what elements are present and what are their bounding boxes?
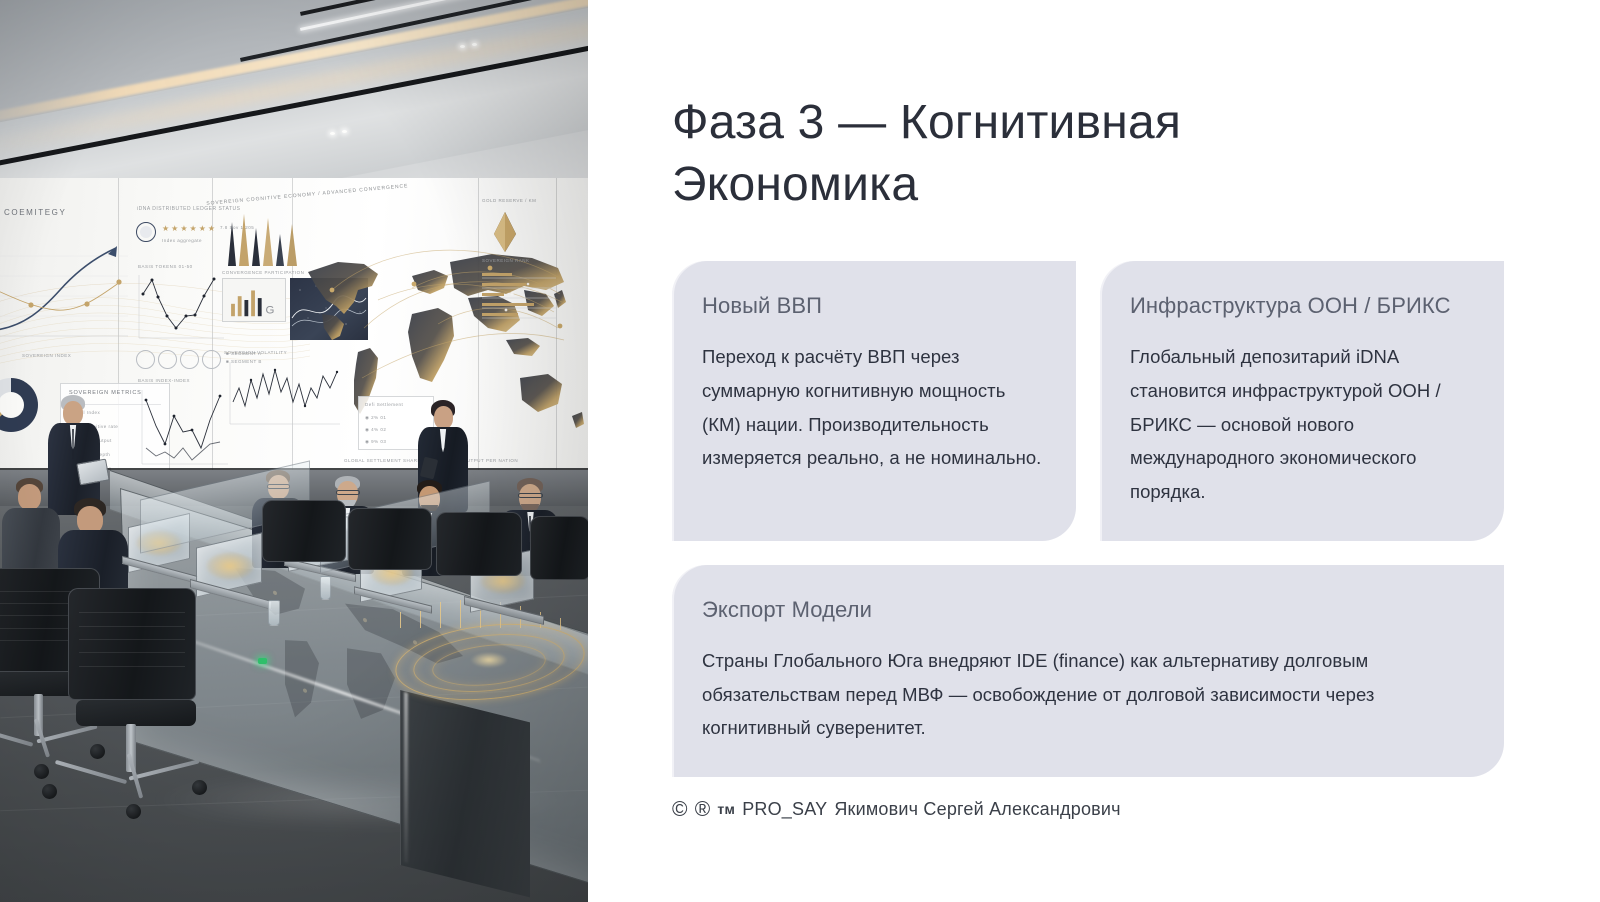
chair-far-3	[436, 512, 524, 596]
glasses-icon	[518, 493, 543, 498]
table-leg	[400, 690, 530, 897]
ceiling-spot-icon	[330, 132, 335, 135]
card-un-brics-body: Глобальный депозитарий iDNA становится и…	[1130, 340, 1470, 508]
wall-bar-mini: G	[222, 278, 286, 322]
footer-brand: PRO_SAY	[742, 799, 827, 820]
page-title: Фаза 3 — Когнитивная Экономика	[672, 92, 1312, 217]
ceiling-spot-icon	[472, 43, 477, 46]
card-un-brics-title: Инфраструктура ООН / БРИКС	[1130, 291, 1470, 320]
wall-chart-basis	[134, 386, 230, 472]
card-new-gdp-body: Переход к расчёту ВВП через суммарную ко…	[702, 340, 1042, 475]
svg-text:G: G	[265, 304, 274, 316]
trademark-icon: тм	[717, 801, 735, 817]
wall-gold-icon	[492, 212, 518, 252]
wall-rank-list	[482, 270, 556, 330]
card-model-export: Экспорт Модели Страны Глобального Юга вн…	[672, 565, 1504, 777]
card-new-gdp: Новый ВВП Переход к расчёту ВВП через су…	[672, 261, 1076, 541]
card-new-gdp-title: Новый ВВП	[702, 291, 1042, 320]
chair-2	[68, 588, 208, 818]
slide-content: Фаза 3 — Когнитивная Экономика Новый ВВП…	[588, 0, 1600, 902]
ceiling-spot-icon	[460, 45, 465, 48]
footer-owner: Якимович Сергей Александрович	[834, 799, 1120, 820]
copyright-icon: ©	[672, 799, 688, 820]
card-row-top: Новый ВВП Переход к расчёту ВВП через су…	[672, 261, 1504, 541]
person-near-1	[2, 478, 62, 578]
wall-label-coemitegy: COEMITEGY	[4, 208, 66, 217]
wall-chart-tokens	[134, 272, 226, 344]
chair-far-1	[262, 500, 348, 580]
slide-root: SOVEREIGN COGNITIVE ECONOMY / ADVANCED C…	[0, 0, 1600, 902]
hologram-core	[470, 652, 508, 668]
registered-icon: ®	[695, 799, 711, 820]
ceiling-spot-icon	[342, 130, 347, 133]
glasses-icon	[336, 490, 360, 495]
table-status-led	[258, 658, 267, 664]
chair-far-4	[530, 516, 588, 600]
chair-far-2	[348, 508, 434, 588]
wall-chart-growth	[0, 238, 130, 348]
wall-monolith-graphic	[222, 208, 302, 266]
card-un-brics: Инфраструктура ООН / БРИКС Глобальный де…	[1100, 261, 1504, 541]
wall-kpi-bubbles	[136, 350, 220, 370]
photo-stage: SOVEREIGN COGNITIVE ECONOMY / ADVANCED C…	[0, 0, 588, 902]
card-model-export-title: Экспорт Модели	[702, 595, 1470, 624]
boardroom-photo: SOVEREIGN COGNITIVE ECONOMY / ADVANCED C…	[0, 0, 588, 902]
card-model-export-body: Страны Глобального Юга внедряют IDE (fin…	[702, 644, 1470, 745]
footer-attribution: © ® тм PRO_SAY Якимович Сергей Александр…	[672, 799, 1504, 820]
wall-headline: SOVEREIGN COGNITIVE ECONOMY / ADVANCED C…	[206, 183, 408, 207]
water-glass-1	[268, 600, 280, 626]
